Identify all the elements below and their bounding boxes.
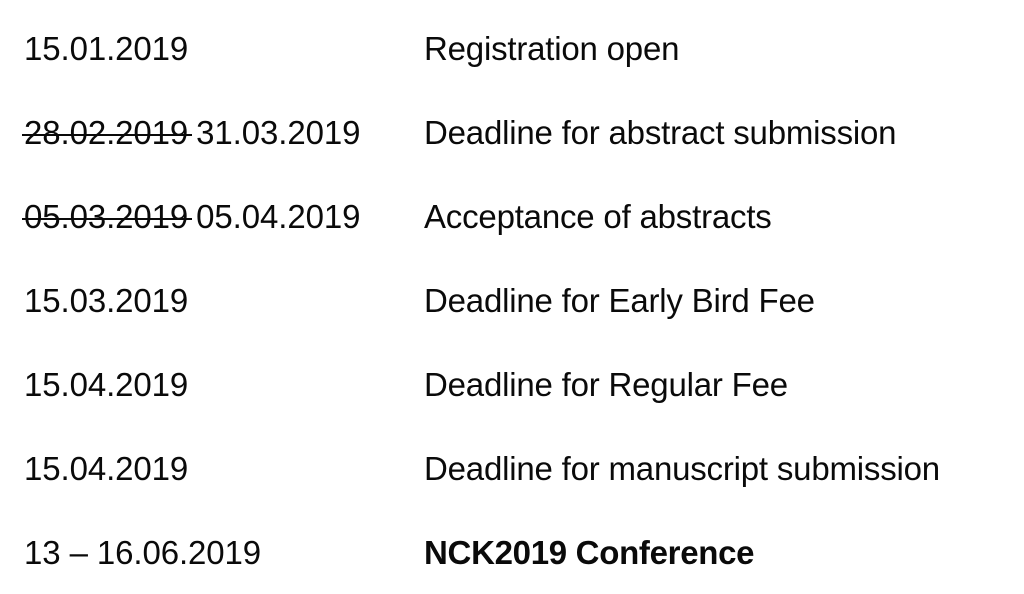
date-cell: 13 – 16.06.2019 <box>24 510 261 594</box>
table-row: 13 – 16.06.2019 NCK2019 Conference <box>0 510 1024 594</box>
table-row: 15.04.2019 Deadline for manuscript submi… <box>0 426 1024 510</box>
date-current: 15.04.2019 <box>24 368 188 401</box>
event-label: Deadline for manuscript submission <box>424 426 940 510</box>
date-cell: 15.04.2019 <box>24 426 188 510</box>
date-current: 13 – 16.06.2019 <box>24 536 261 569</box>
date-current: 15.01.2019 <box>24 32 188 65</box>
date-cell: 05.03.2019 05.04.2019 <box>24 174 360 258</box>
important-dates-table: 15.01.2019 Registration open 28.02.2019 … <box>0 0 1024 582</box>
event-label: Acceptance of abstracts <box>424 174 772 258</box>
event-label: NCK2019 Conference <box>424 510 754 594</box>
date-cell: 15.01.2019 <box>24 6 188 90</box>
date-current: 05.04.2019 <box>196 200 360 233</box>
table-row: 15.01.2019 Registration open <box>0 6 1024 90</box>
date-cell: 15.03.2019 <box>24 258 188 342</box>
date-superseded: 05.03.2019 <box>24 200 188 233</box>
date-cell: 28.02.2019 31.03.2019 <box>24 90 360 174</box>
date-current: 15.04.2019 <box>24 452 188 485</box>
date-current: 15.03.2019 <box>24 284 188 317</box>
table-row: 05.03.2019 05.04.2019 Acceptance of abst… <box>0 174 1024 258</box>
date-cell: 15.04.2019 <box>24 342 188 426</box>
date-superseded: 28.02.2019 <box>24 116 188 149</box>
date-current: 31.03.2019 <box>196 116 360 149</box>
event-label: Deadline for abstract submission <box>424 90 896 174</box>
table-row: 15.04.2019 Deadline for Regular Fee <box>0 342 1024 426</box>
table-row: 15.03.2019 Deadline for Early Bird Fee <box>0 258 1024 342</box>
table-row: 28.02.2019 31.03.2019 Deadline for abstr… <box>0 90 1024 174</box>
event-label: Registration open <box>424 6 679 90</box>
event-label: Deadline for Regular Fee <box>424 342 788 426</box>
event-label: Deadline for Early Bird Fee <box>424 258 815 342</box>
